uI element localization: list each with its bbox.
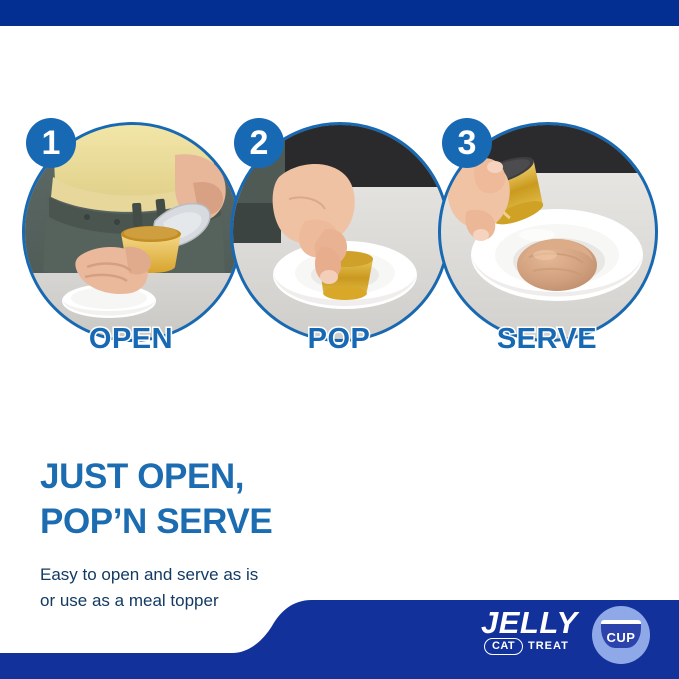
cup-badge-icon: CUP [592, 606, 650, 664]
headline-line-2: POP’N SERVE [40, 500, 460, 545]
step-item: 3 SERVE [436, 118, 658, 368]
body-line-1: Easy to open and serve as is [40, 565, 258, 584]
headline: JUST OPEN, POP’N SERVE [40, 455, 460, 545]
headline-line-1: JUST OPEN, [40, 457, 244, 496]
brand-logo: JELLY CAT TREAT CUP [481, 607, 666, 669]
logo-cat-pill: CAT [484, 638, 523, 655]
logo-brand-text: JELLY [481, 607, 578, 638]
step-badge-number: 1 [26, 118, 76, 168]
step-item: 1 OPEN [20, 118, 242, 368]
step-label-serve: SERVE [436, 323, 658, 356]
steps-row: 1 OPEN [0, 118, 679, 368]
step-label-pop: POP [228, 323, 450, 356]
logo-treat-text: TREAT [528, 640, 569, 652]
step-badge-number: 3 [442, 118, 492, 168]
step-item: 2 POP [228, 118, 450, 368]
top-accent-bar [0, 0, 679, 26]
step-badge-number: 2 [234, 118, 284, 168]
logo-cup-text: CUP [592, 630, 650, 645]
logo-subtitle: CAT TREAT [484, 637, 569, 655]
step-label-open: OPEN [20, 323, 242, 356]
product-infographic: 1 OPEN [0, 0, 679, 679]
